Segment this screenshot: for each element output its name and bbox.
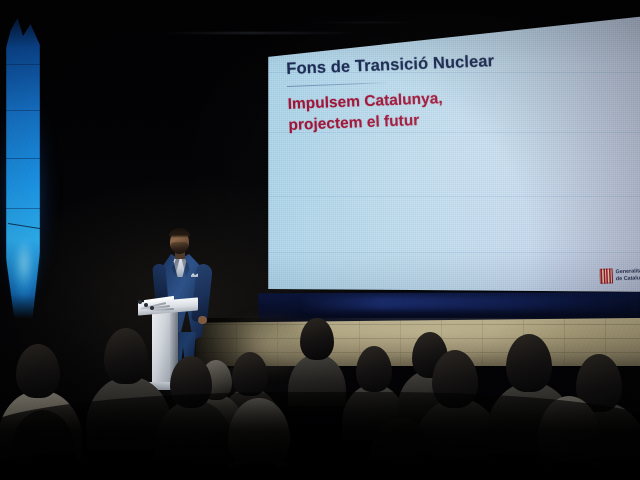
projection-screen: Fons de Transició Nuclear Impulsem Catal…	[266, 14, 640, 296]
column-light-hotspot	[10, 218, 38, 308]
under-screen-light-sheen	[300, 296, 630, 310]
column-seam-2	[6, 110, 40, 111]
column-seam-1	[6, 64, 40, 65]
column-seam-4	[6, 208, 40, 209]
speaker-beard	[171, 242, 188, 254]
lectern	[138, 300, 200, 390]
slide-subtitle: Impulsem Catalunya, projectem el futur	[287, 83, 618, 137]
screen-band-4	[266, 252, 640, 253]
gencat-logo-text: Generalitat de Catalunya	[616, 268, 640, 283]
ceiling-seam-line	[160, 32, 360, 34]
senyera-flag-icon	[600, 268, 614, 283]
microphone-head-3	[150, 306, 154, 310]
ceiling-seam-line-secondary	[300, 22, 420, 23]
slide-divider	[287, 82, 387, 87]
microphone-head-2	[144, 303, 148, 307]
blue-lit-column	[0, 18, 58, 318]
gencat-logo-line-2: de Catalunya	[616, 275, 640, 283]
speaker-hair	[169, 228, 190, 238]
screen-band-3	[266, 196, 640, 197]
lectern-base	[148, 382, 182, 390]
generalitat-de-catalunya-logo: Generalitat de Catalunya	[600, 267, 640, 284]
column-seam-3	[6, 158, 40, 159]
screenshot-root: Fons de Transició Nuclear Impulsem Catal…	[0, 0, 640, 480]
lectern-side-shadow	[170, 311, 179, 385]
microphone-head-1	[138, 300, 142, 304]
slide-content: Fons de Transició Nuclear Impulsem Catal…	[286, 48, 619, 137]
slide-title: Fons de Transició Nuclear	[286, 48, 616, 79]
